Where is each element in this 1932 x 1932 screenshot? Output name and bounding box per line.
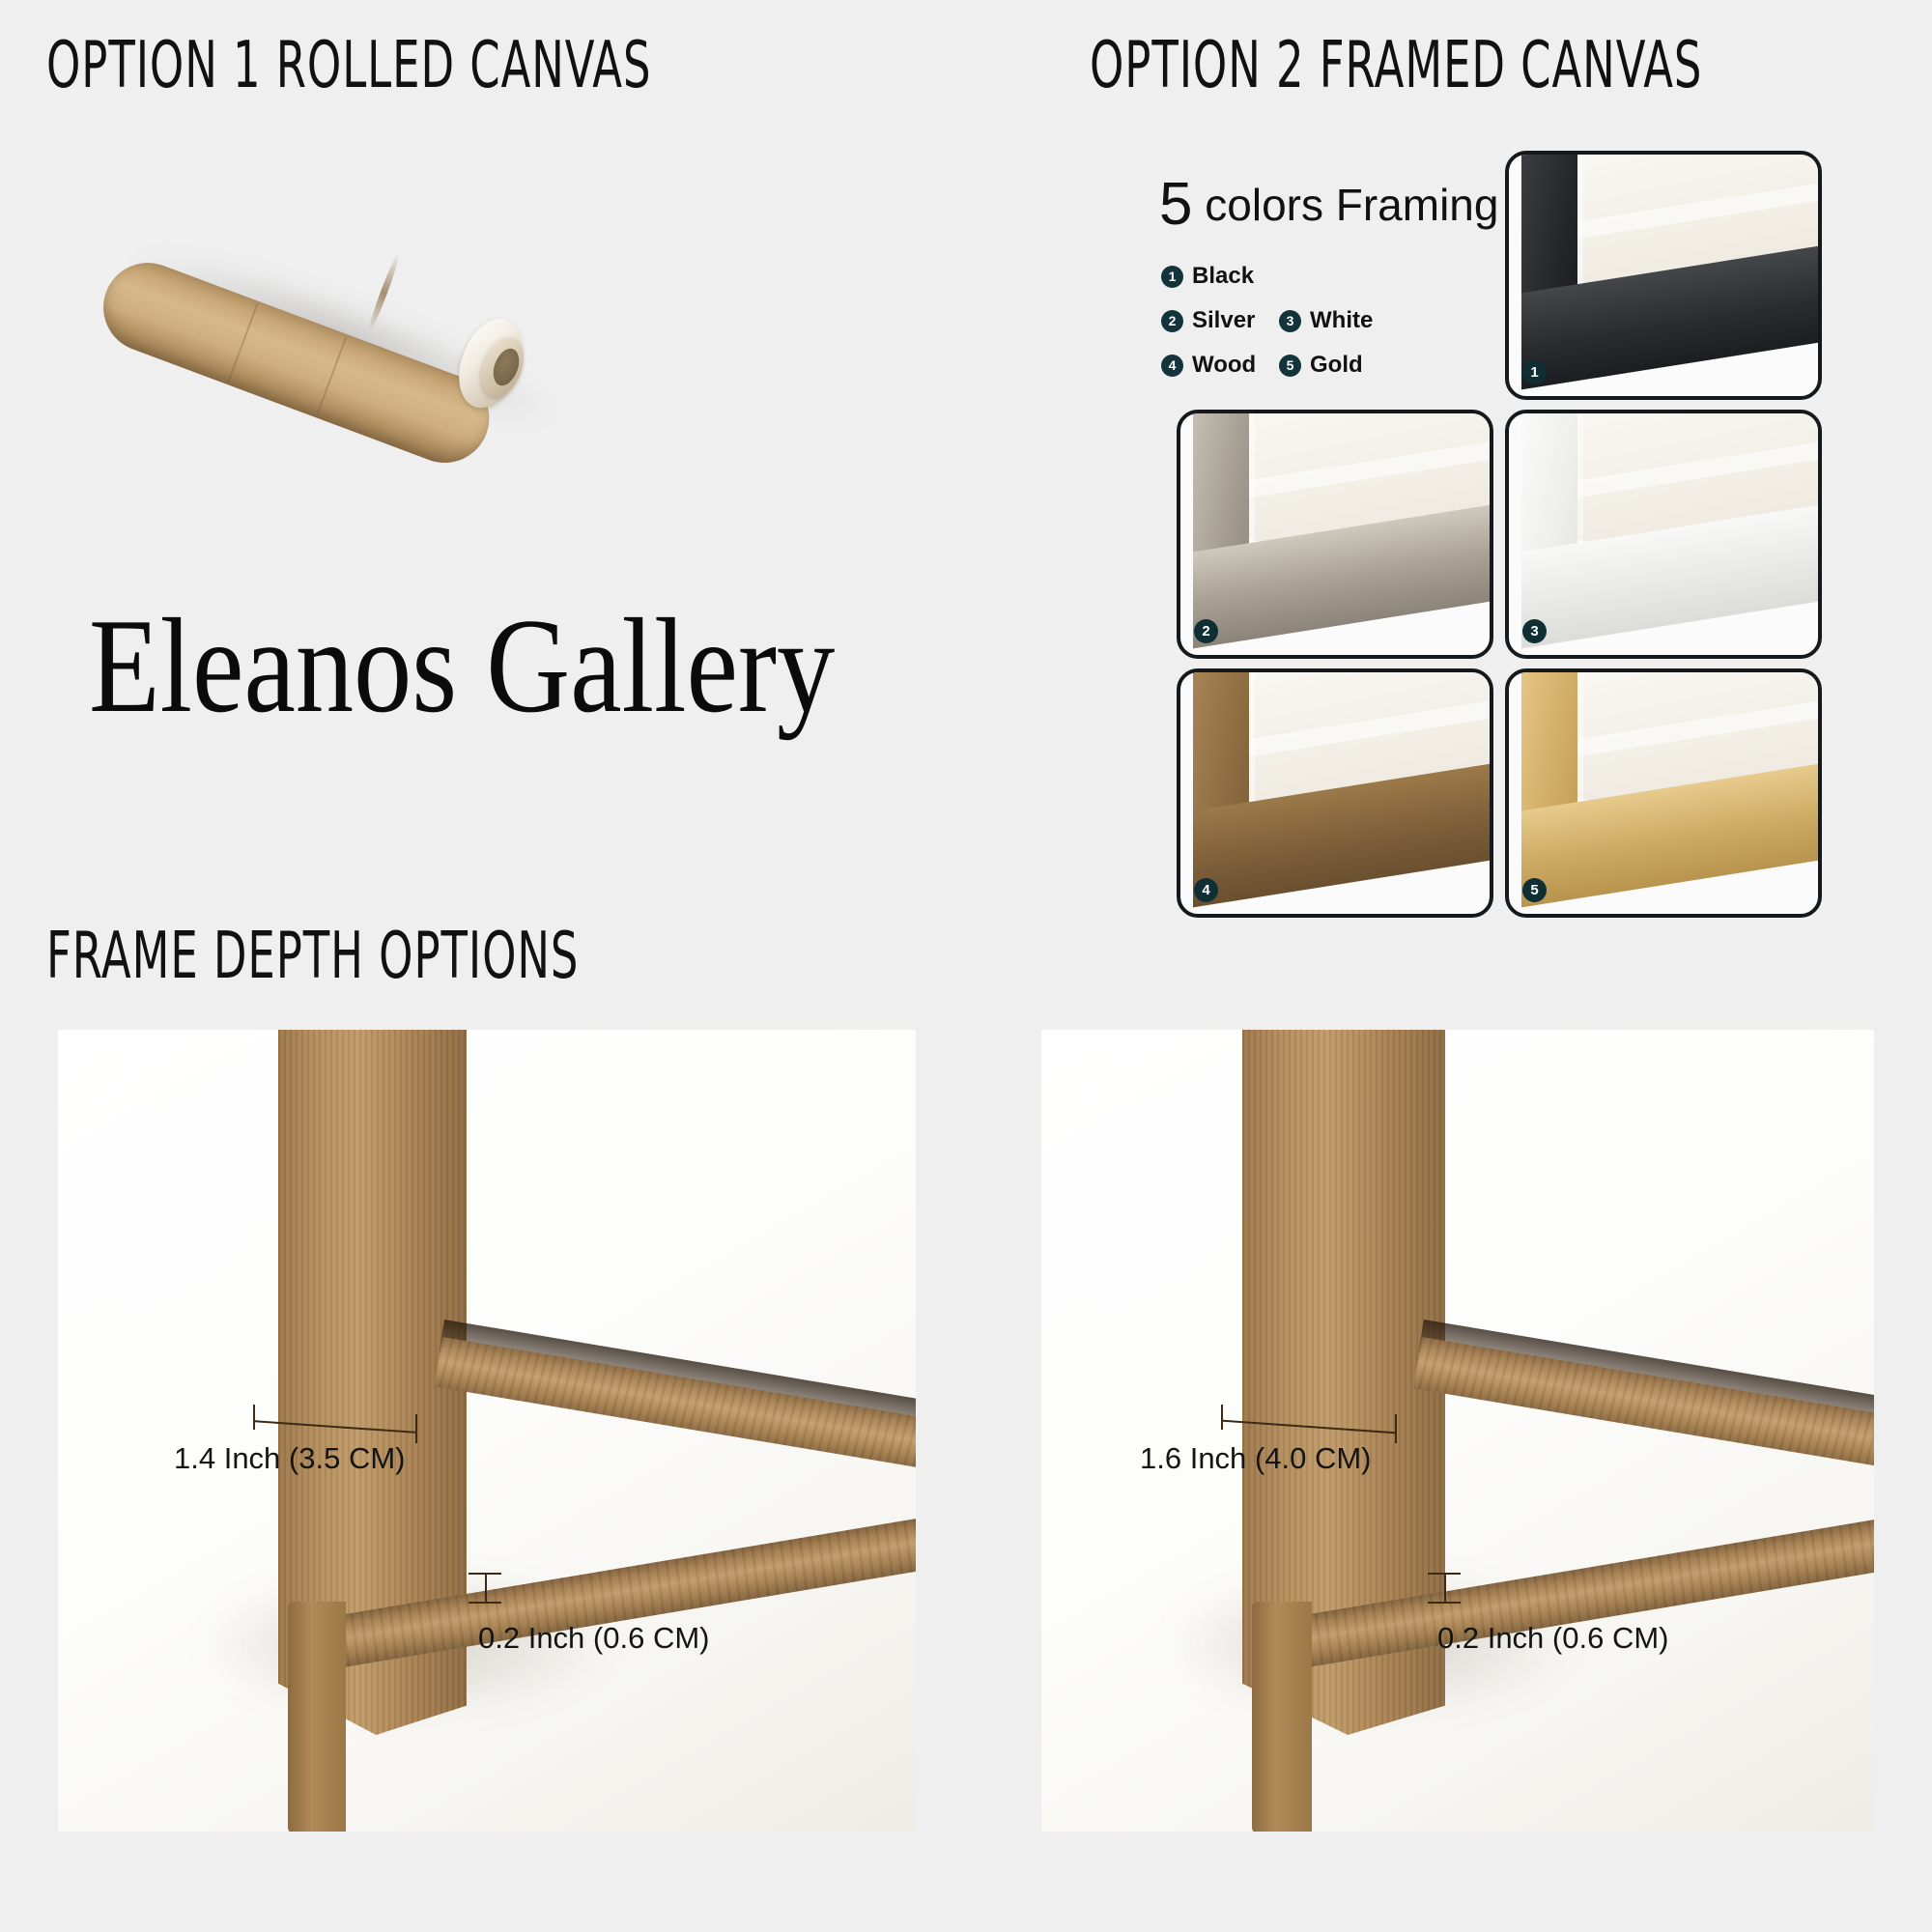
- frame-depth-photo-2: 1.6 Inch (4.0 CM) 0.2 Inch (0.6 CM): [1041, 1030, 1874, 1832]
- frame-swatch-wood[interactable]: 4: [1177, 668, 1493, 918]
- legend-row: 1 Black: [1161, 263, 1432, 290]
- depth-lip-label: 0.2 Inch (0.6 CM): [478, 1621, 709, 1656]
- brand-logo: Eleanos Gallery: [89, 599, 835, 734]
- legend-label: Silver: [1192, 307, 1255, 334]
- frame-lower-cap: [1252, 1602, 1312, 1832]
- legend-item-gold: 5 Gold: [1279, 352, 1397, 379]
- lip-ibar-bottom: [1428, 1602, 1461, 1604]
- legend-number: 1: [1161, 266, 1183, 288]
- legend-number: 5: [1279, 355, 1301, 377]
- lip-ibar-bottom: [469, 1602, 501, 1604]
- legend-row: 4 Wood 5 Gold: [1161, 352, 1432, 379]
- legend-number: 4: [1161, 355, 1183, 377]
- depth-width-label: 1.4 Inch (3.5 CM): [174, 1441, 405, 1476]
- frame-swatch-gold[interactable]: 5: [1505, 668, 1822, 918]
- dimension-tick-right: [1395, 1414, 1397, 1443]
- frame-lower-cap: [288, 1602, 346, 1832]
- frame-corner-render: [1180, 672, 1490, 914]
- infographic-page: OPTION 1 ROLLED CANVAS OPTION 2 FRAMED C…: [0, 0, 1932, 1932]
- depth-width-label: 1.6 Inch (4.0 CM): [1140, 1441, 1371, 1476]
- legend-number: 2: [1161, 310, 1183, 332]
- legend-item-silver: 2 Silver: [1161, 307, 1279, 334]
- legend-item-wood: 4 Wood: [1161, 352, 1279, 379]
- frame-corner-render: [1180, 413, 1490, 655]
- depth-lip-label: 0.2 Inch (0.6 CM): [1437, 1621, 1668, 1656]
- swatch-badge: 4: [1194, 878, 1218, 902]
- legend-number: 3: [1279, 310, 1301, 332]
- dimension-tick-right: [415, 1414, 417, 1443]
- dimension-tick-left: [253, 1405, 255, 1430]
- legend-label: Gold: [1310, 352, 1363, 379]
- frame-swatch-silver[interactable]: 2: [1177, 410, 1493, 659]
- framing-title-rest: colors Framing: [1192, 180, 1498, 230]
- frame-swatch-black[interactable]: 1: [1505, 151, 1822, 400]
- dimension-tick-left: [1221, 1405, 1223, 1430]
- heading-option-2: OPTION 2 FRAMED CANVAS: [1090, 29, 1702, 103]
- frame-swatch-white[interactable]: 3: [1505, 410, 1822, 659]
- frame-corner-render: [1509, 413, 1818, 655]
- swatch-badge: 1: [1522, 360, 1547, 384]
- legend-label: Wood: [1192, 352, 1256, 379]
- frame-corner-render: [1509, 672, 1818, 914]
- legend-label: Black: [1192, 263, 1254, 290]
- legend-row: 2 Silver 3 White: [1161, 307, 1432, 334]
- swatch-badge: 2: [1194, 619, 1218, 643]
- framing-count: 5: [1159, 171, 1192, 238]
- legend-item-white: 3 White: [1279, 307, 1397, 334]
- swatch-badge: 5: [1522, 878, 1547, 902]
- legend-item-black: 1 Black: [1161, 263, 1279, 290]
- legend-label: White: [1310, 307, 1373, 334]
- lip-ibar-stem: [485, 1573, 487, 1602]
- heading-frame-depth: FRAME DEPTH OPTIONS: [46, 920, 579, 994]
- framing-colors-title: 5 colors Framing: [1159, 170, 1498, 239]
- frame-corner-render: [1509, 155, 1818, 396]
- rolled-canvas-tube-image: [77, 155, 618, 444]
- framing-color-legend: 1 Black 2 Silver 3 White 4 Wood 5 Gold: [1161, 263, 1432, 396]
- heading-option-1: OPTION 1 ROLLED CANVAS: [46, 29, 651, 103]
- frame-depth-photo-1: 1.4 Inch (3.5 CM) 0.2 Inch (0.6 CM): [58, 1030, 916, 1832]
- swatch-badge: 3: [1522, 619, 1547, 643]
- lip-ibar-stem: [1444, 1573, 1446, 1602]
